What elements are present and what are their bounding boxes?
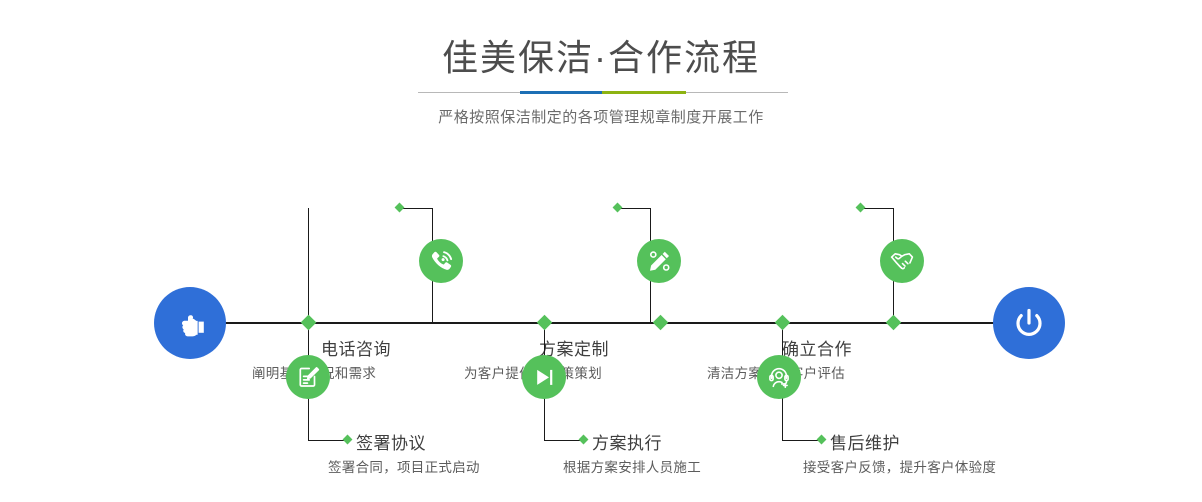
step-title-step-1: 电话咨询 bbox=[186, 335, 391, 360]
step-icon-step-1[interactable] bbox=[419, 239, 463, 283]
divider-segment-blue bbox=[520, 91, 602, 94]
pencil-compass-icon bbox=[647, 249, 672, 274]
handshake-icon bbox=[889, 248, 915, 274]
document-edit-icon bbox=[296, 365, 321, 390]
step-title-step-4: 方案执行 bbox=[592, 429, 662, 454]
label-bullet-step-1 bbox=[395, 203, 405, 213]
page-title: 佳美保洁·合作流程 bbox=[0, 36, 1202, 80]
step-desc-step-6: 接受客户反馈，提升客户体验度 bbox=[803, 456, 996, 476]
divider-segment-green bbox=[602, 91, 686, 94]
label-bullet-step-5 bbox=[856, 203, 866, 213]
page-subtitle: 严格按照保洁制定的各项管理规章制度开展工作 bbox=[0, 106, 1202, 127]
step-title-step-5: 确立合作 bbox=[647, 335, 852, 360]
label-bullet-step-4 bbox=[579, 435, 589, 445]
connector-hbar-step-3 bbox=[617, 208, 650, 209]
header: 佳美保洁·合作流程 严格按照保洁制定的各项管理规章制度开展工作 bbox=[0, 0, 1202, 150]
step-icon-step-2[interactable] bbox=[286, 355, 330, 399]
play-execute-icon bbox=[532, 365, 557, 390]
label-bullet-step-2 bbox=[343, 435, 353, 445]
connector-hbar-step-4 bbox=[544, 440, 582, 441]
connector-hbar-step-5 bbox=[860, 208, 893, 209]
timeline-marker-step-5b bbox=[886, 315, 902, 331]
step-desc-step-2: 签署合同，项目正式启动 bbox=[328, 456, 480, 476]
step-desc-step-4: 根据方案安排人员施工 bbox=[563, 456, 701, 476]
step-title-step-3: 方案定制 bbox=[404, 335, 609, 360]
timeline-marker-step-4 bbox=[653, 315, 669, 331]
step-icon-step-6[interactable] bbox=[757, 355, 801, 399]
headset-support-icon bbox=[767, 365, 792, 390]
step-title-step-6: 售后维护 bbox=[830, 429, 900, 454]
process-timeline: 电话咨询 阐明基本情况和需求 签署协议 签署合同，项目正式启动 bbox=[0, 150, 1202, 502]
phone-call-icon bbox=[428, 248, 454, 274]
step-icon-step-4[interactable] bbox=[522, 355, 566, 399]
timeline-axis bbox=[165, 322, 1040, 324]
power-icon bbox=[1008, 302, 1050, 344]
timeline-end-endpoint bbox=[993, 287, 1065, 359]
step-title-step-2: 签署协议 bbox=[356, 429, 426, 454]
label-bullet-step-6 bbox=[817, 435, 827, 445]
label-bullet-step-3 bbox=[613, 203, 623, 213]
step-icon-step-5[interactable] bbox=[880, 239, 924, 283]
connector-stem-step-1 bbox=[308, 208, 309, 322]
timeline-marker-step-5 bbox=[775, 315, 791, 331]
step-icon-step-3[interactable] bbox=[637, 239, 681, 283]
connector-hbar-step-1 bbox=[399, 208, 432, 209]
connector-hbar-step-6 bbox=[782, 440, 820, 441]
timeline-marker-step-3 bbox=[537, 315, 553, 331]
title-divider bbox=[418, 91, 788, 94]
connector-hbar-step-2 bbox=[308, 440, 346, 441]
timeline-marker-step-2 bbox=[301, 315, 317, 331]
